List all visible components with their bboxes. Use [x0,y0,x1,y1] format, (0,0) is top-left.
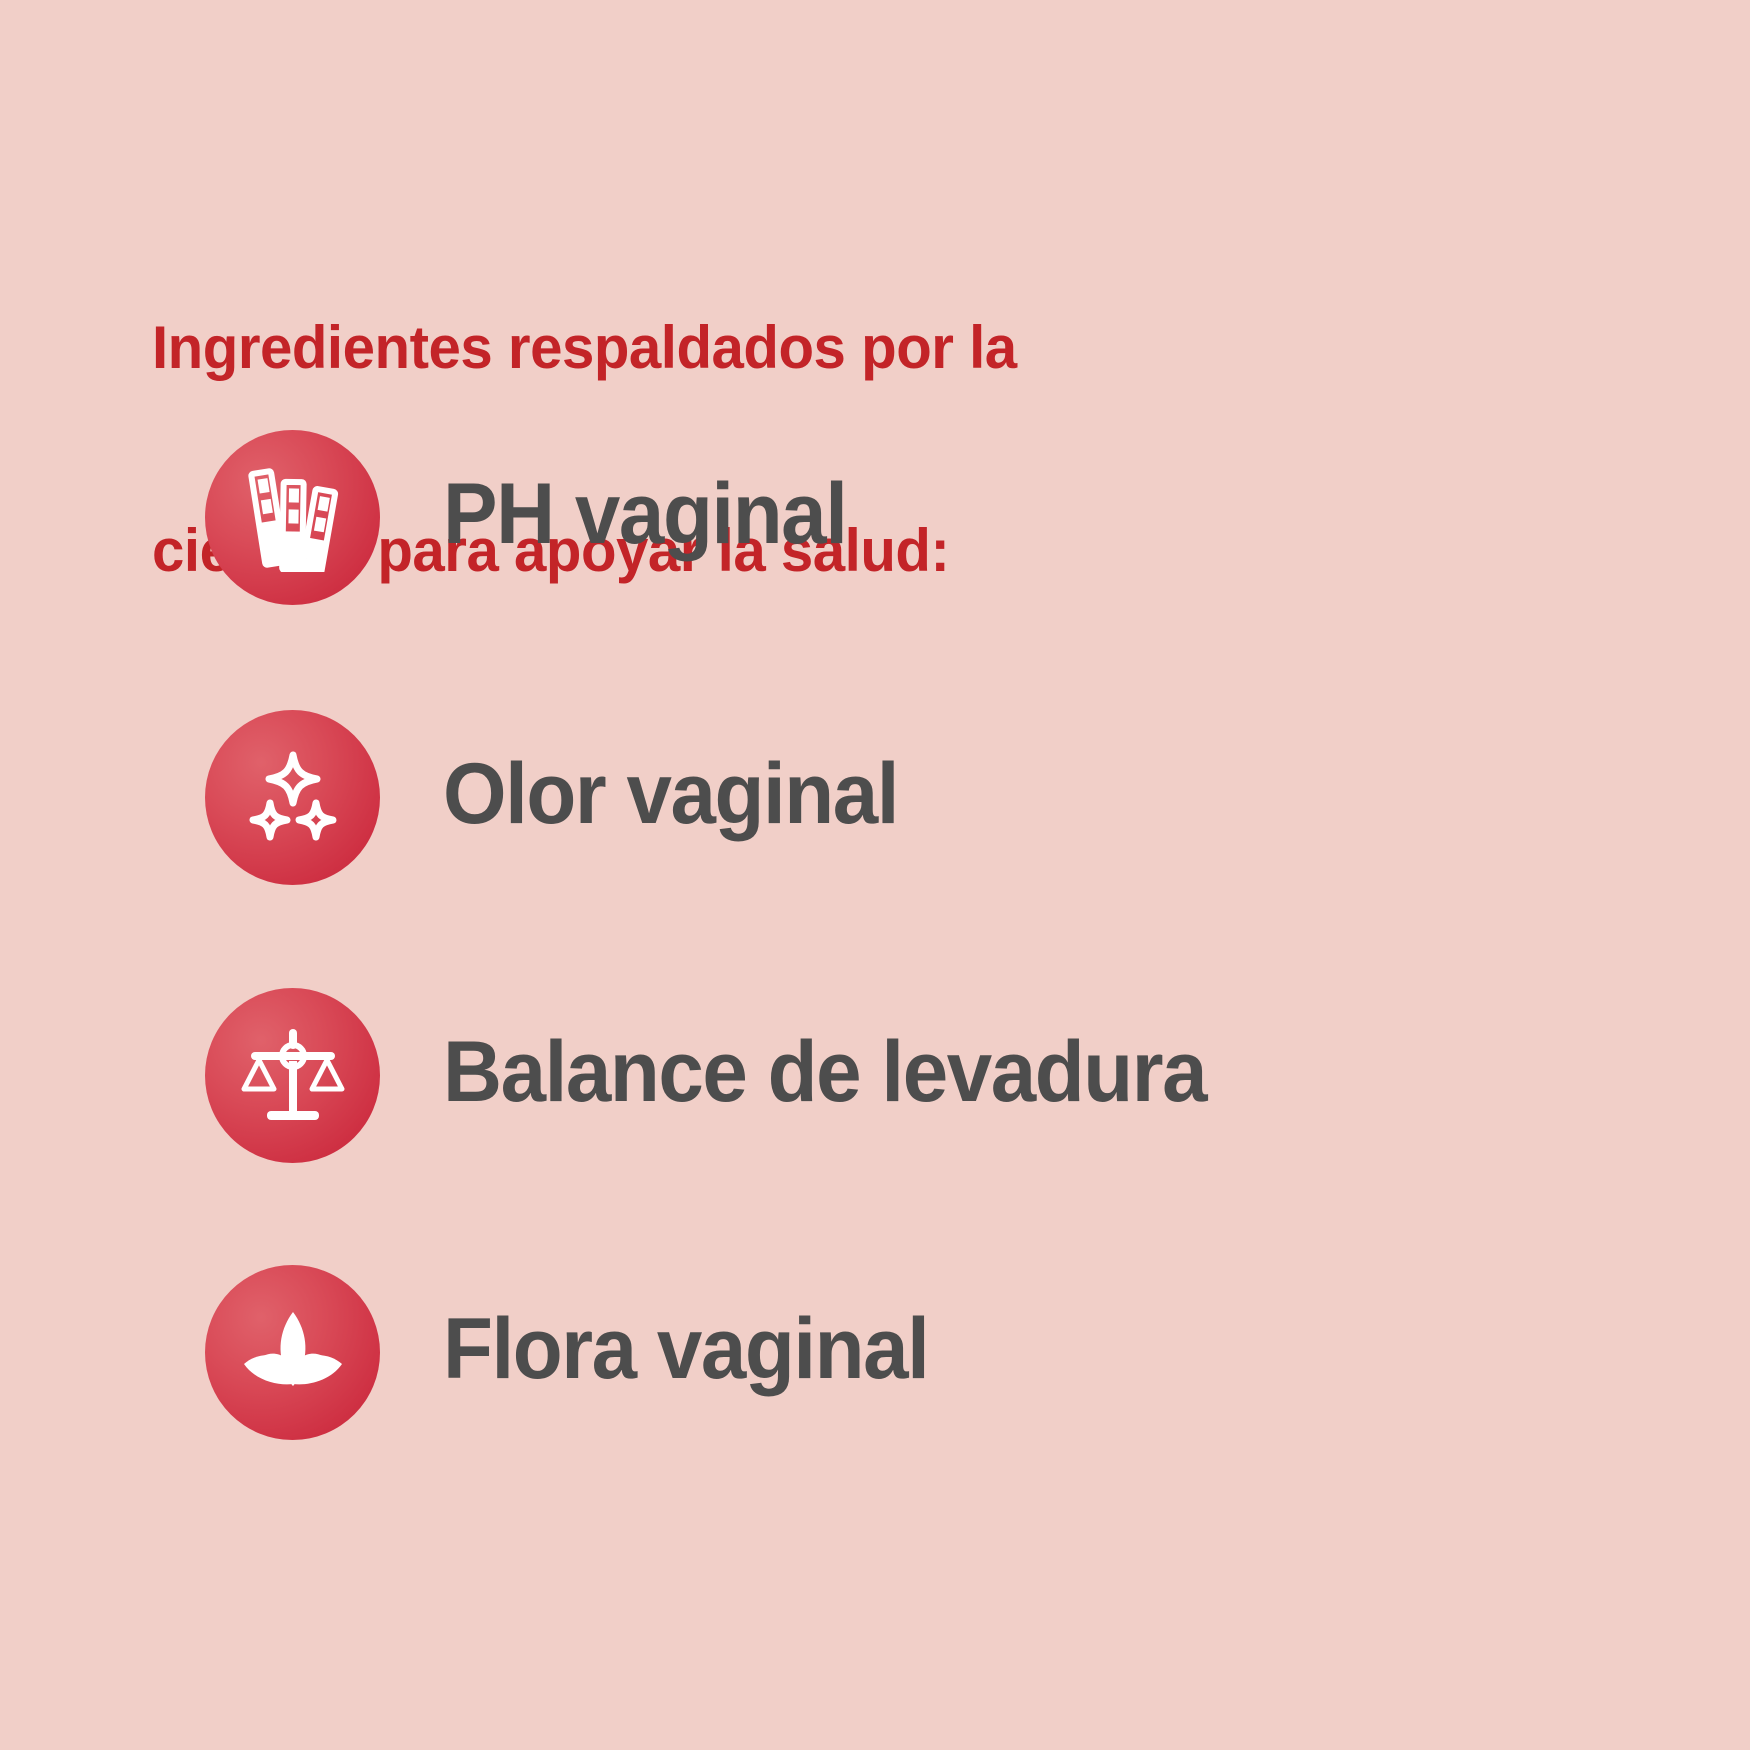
benefit-label: PH vaginal [443,471,846,563]
benefit-row-olor-vaginal: Olor vaginal [205,707,922,887]
benefits-list: PH vaginal Olor vaginal [0,0,1750,1750]
sparkles-icon [205,710,380,885]
benefit-row-balance-de-levadura: Balance de levadura [205,985,1246,1165]
benefit-label: Flora vaginal [443,1306,928,1398]
balance-scale-icon [205,988,380,1163]
benefit-label: Olor vaginal [443,751,898,843]
benefit-row-ph-vaginal: PH vaginal [205,427,868,607]
lotus-flower-icon [205,1265,380,1440]
benefit-label: Balance de levadura [443,1029,1206,1121]
ph-test-strips-icon [205,430,380,605]
benefit-row-flora-vaginal: Flora vaginal [205,1262,954,1442]
